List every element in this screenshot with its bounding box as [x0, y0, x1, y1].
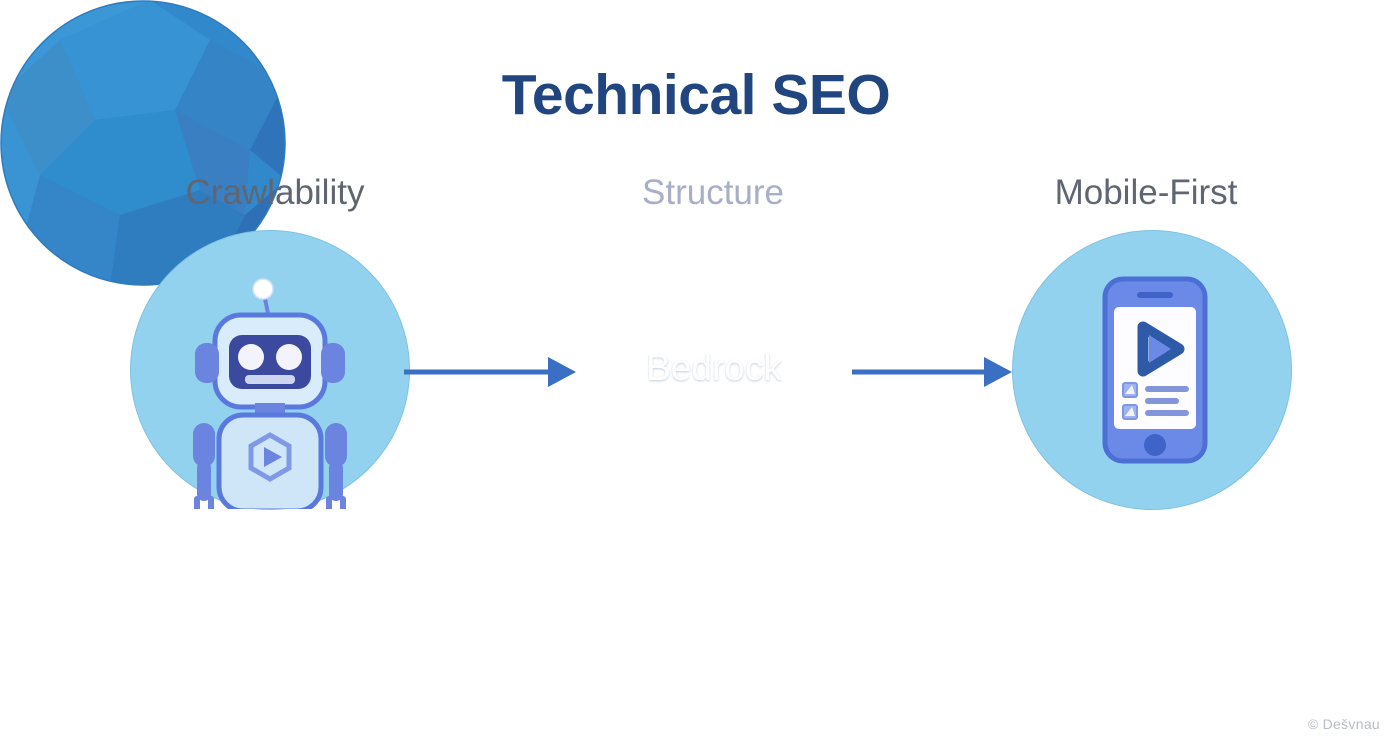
- smartphone-icon: [1013, 231, 1291, 509]
- stage-center-label: Bedrock: [571, 347, 857, 389]
- page-title: Technical SEO: [0, 62, 1392, 128]
- watermark: © Dešvnau: [1308, 716, 1380, 732]
- stage-node-mobile-first[interactable]: [1012, 230, 1292, 510]
- stage-label-mobile-first: Mobile-First: [966, 173, 1326, 213]
- diagram-canvas: Technical SEO Crawlability Structure Mob…: [0, 0, 1392, 752]
- arrow-crawlability-to-structure: [404, 352, 576, 392]
- arrow-structure-to-mobile: [852, 352, 1012, 392]
- stage-node-crawlability[interactable]: [130, 230, 410, 510]
- robot-icon: [131, 231, 409, 509]
- stage-label-structure: Structure: [533, 173, 893, 213]
- stage-label-crawlability: Crawlability: [95, 173, 455, 213]
